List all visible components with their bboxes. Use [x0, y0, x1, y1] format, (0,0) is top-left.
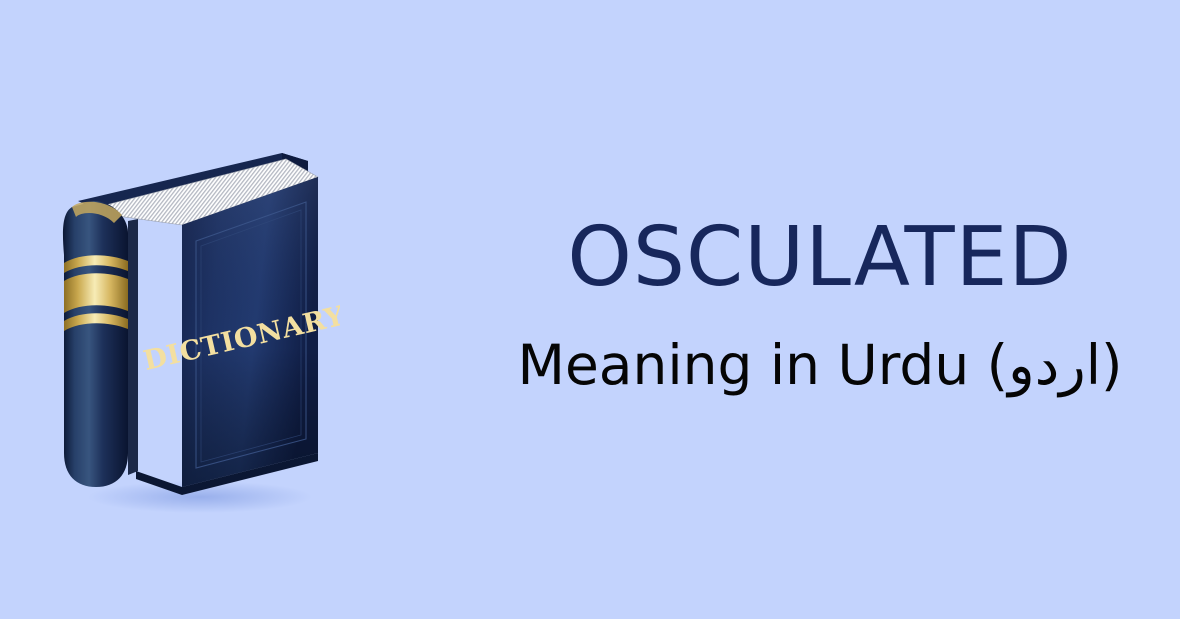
page-canvas: DICTIONARY OSCULATED Meaning in Urdu (ار…	[0, 0, 1180, 619]
book-spine-joint	[128, 219, 138, 475]
meaning-subtitle: Meaning in Urdu (اردو)	[480, 335, 1160, 396]
book-spine	[63, 201, 128, 487]
dictionary-book-illustration: DICTIONARY	[50, 135, 340, 515]
meaning-subtitle-urdu: (اردو)	[987, 333, 1123, 397]
meaning-subtitle-english: Meaning in Urdu	[518, 333, 970, 397]
page-title: OSCULATED	[480, 215, 1160, 301]
word-text-block: OSCULATED Meaning in Urdu (اردو)	[480, 215, 1160, 445]
